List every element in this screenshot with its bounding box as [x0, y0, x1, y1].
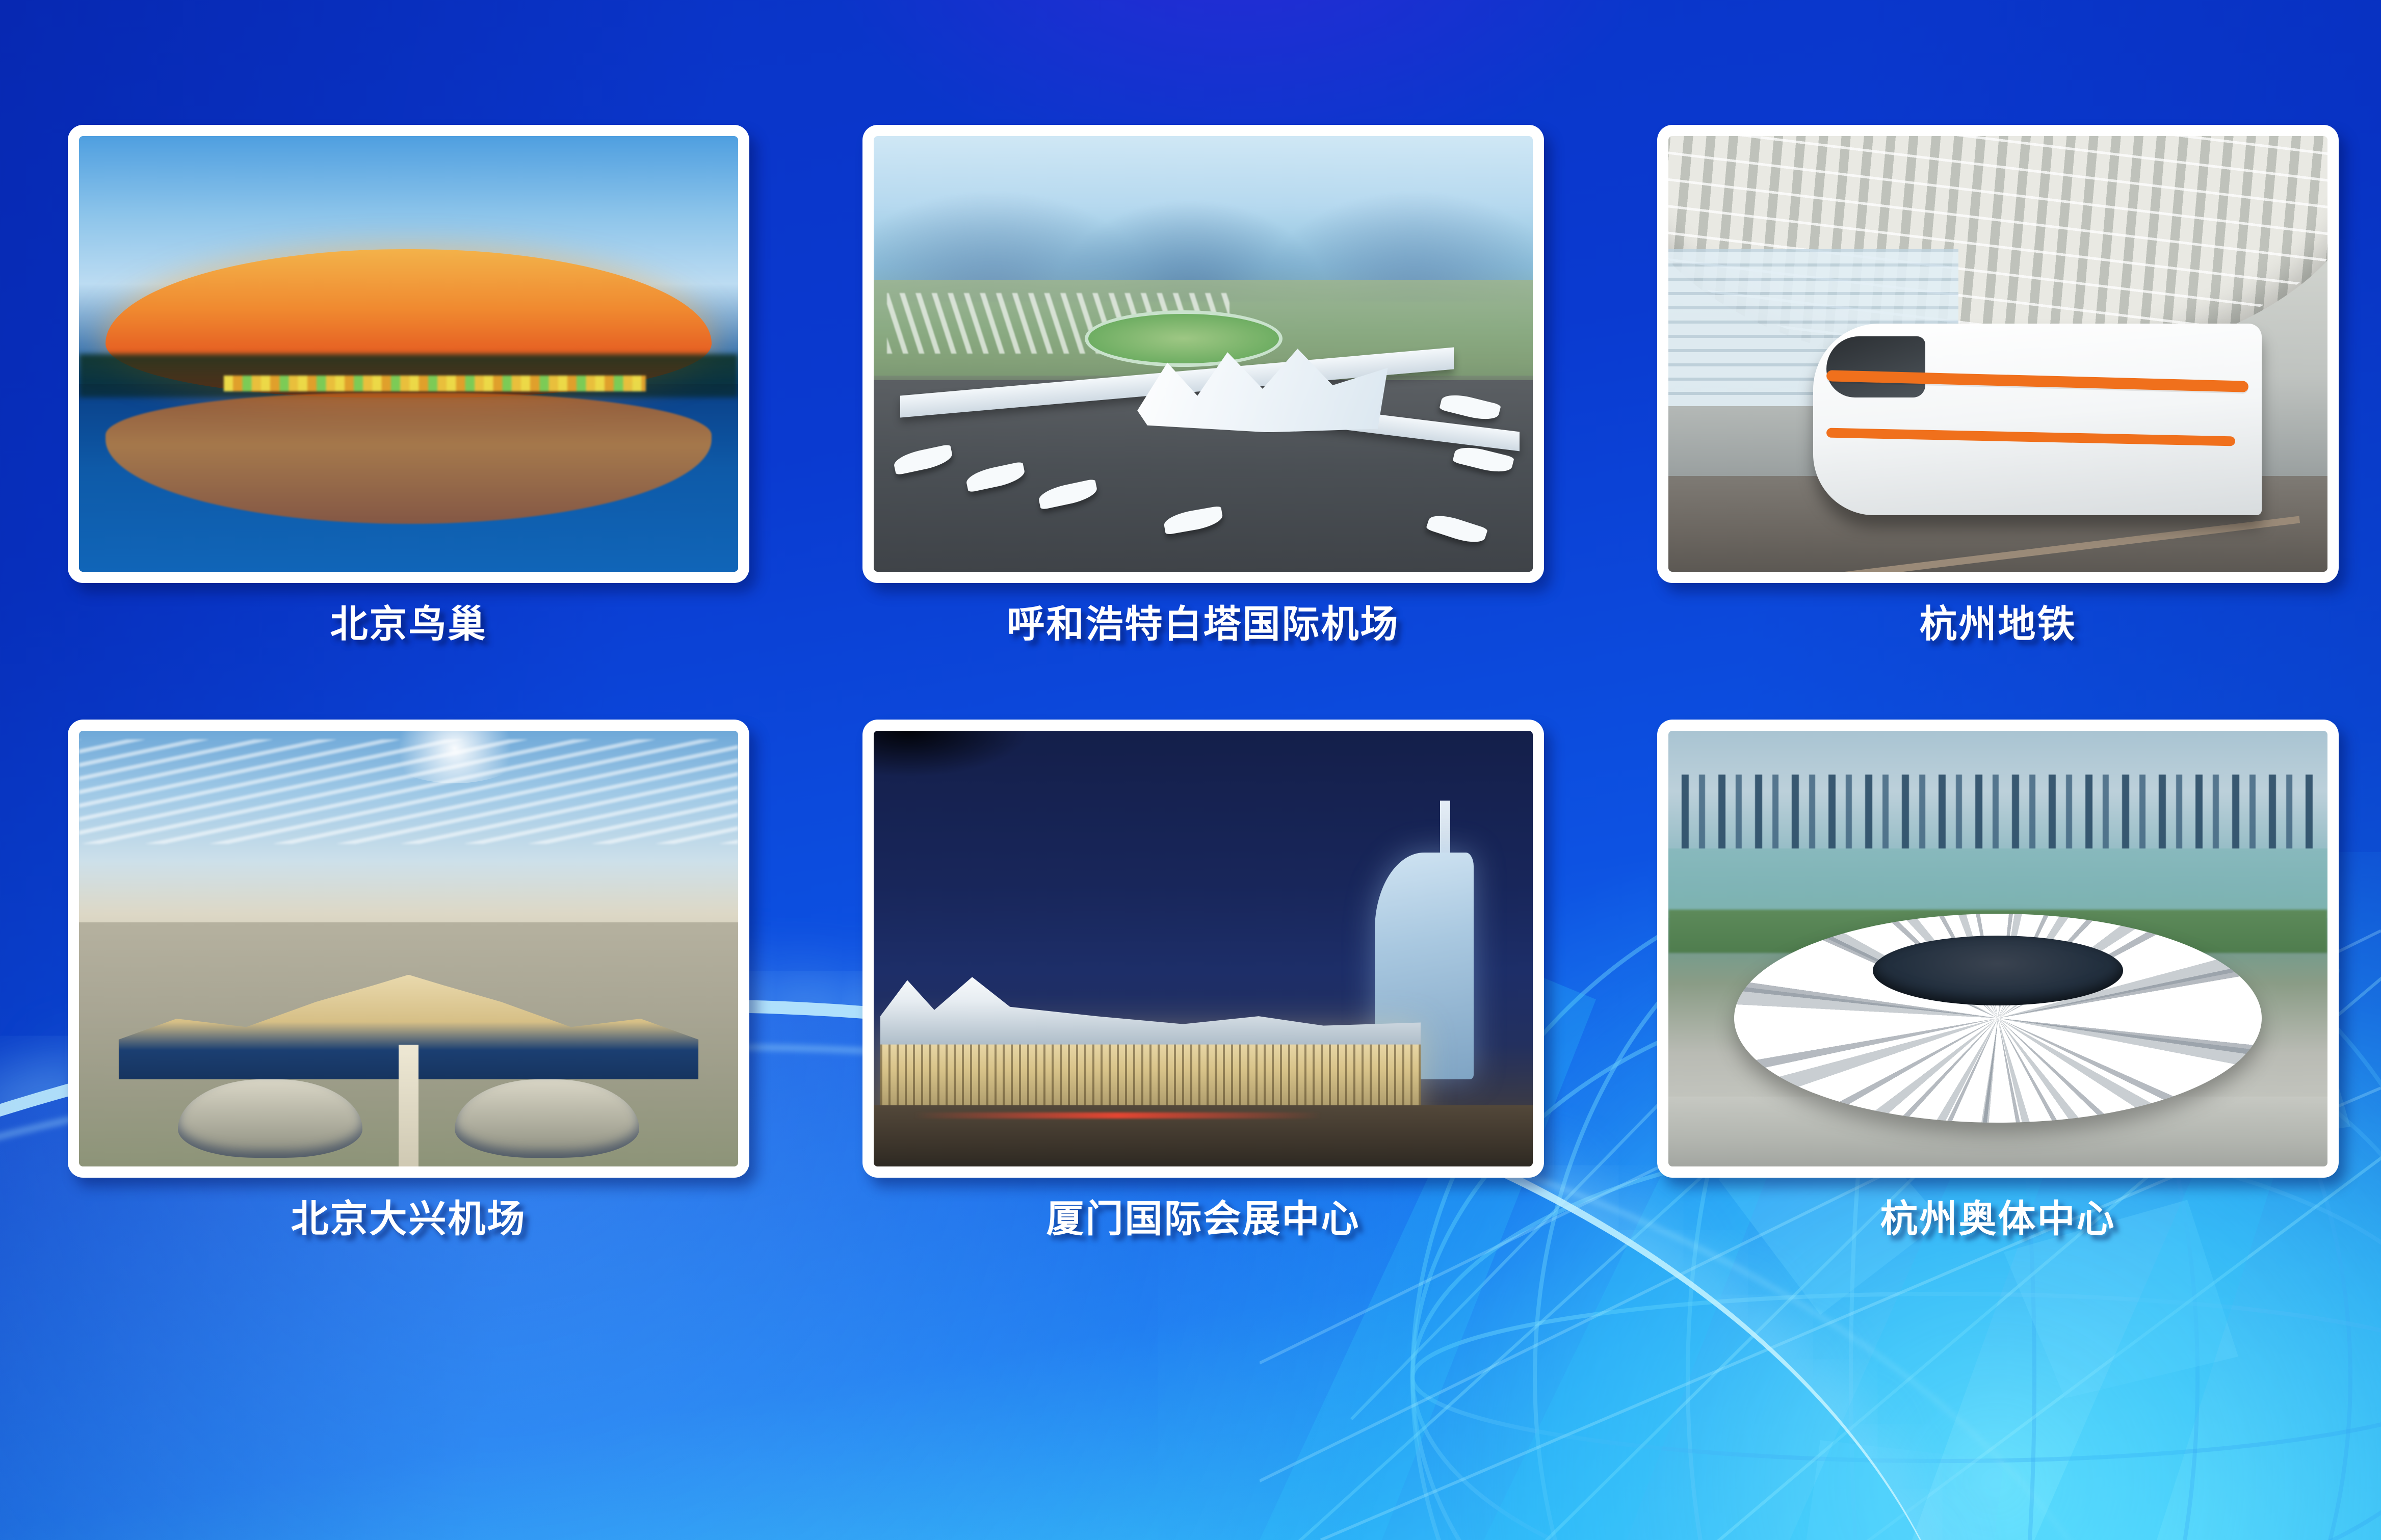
train-windshield — [1826, 336, 1925, 397]
ground-lights — [224, 376, 646, 391]
photo-card[interactable] — [862, 125, 1544, 583]
photo-card[interactable] — [68, 720, 749, 1178]
gallery-item-caption: 呼和浩特白塔国际机场 — [1007, 605, 1400, 643]
gallery-item-caption: 北京鸟巢 — [330, 605, 487, 643]
wave-roof-icon — [880, 966, 1421, 1045]
gallery-item-beijing-daxing-airport[interactable]: 北京大兴机场 — [68, 720, 749, 1238]
gallery-item-caption: 杭州地铁 — [1920, 605, 2077, 643]
gallery-item-hangzhou-metro[interactable]: 杭州地铁 — [1657, 125, 2339, 643]
gallery-item-caption: 厦门国际会展中心 — [1046, 1200, 1360, 1238]
photo-hohhot-airport — [874, 136, 1533, 572]
gallery-item-caption: 杭州奥体中心 — [1880, 1200, 2116, 1238]
gallery-item-hangzhou-olympic-center[interactable]: 杭州奥体中心 — [1657, 720, 2339, 1238]
photo-card[interactable] — [862, 720, 1544, 1178]
gallery-item-hohhot-baita-airport[interactable]: 呼和浩特白塔国际机场 — [862, 125, 1544, 643]
photo-xiamen-convention — [874, 731, 1533, 1166]
foreground-foliage — [874, 731, 1045, 783]
qiantang-river — [1668, 848, 2327, 918]
city-skyline — [1682, 775, 2314, 853]
gallery-item-xiamen-convention-center[interactable]: 厦门国际会展中心 — [862, 720, 1544, 1238]
photo-hangzhou-olympic — [1668, 731, 2327, 1166]
photo-daxing-airport — [79, 731, 738, 1166]
photo-card[interactable] — [68, 125, 749, 583]
photo-hangzhou-metro — [1668, 136, 2327, 572]
photo-card[interactable] — [1657, 720, 2339, 1178]
car-light-trail — [913, 1112, 1322, 1119]
central-access-road — [399, 1045, 418, 1166]
gallery-item-caption: 北京大兴机场 — [291, 1200, 527, 1238]
photo-birds-nest — [79, 136, 738, 572]
gallery-item-beijing-birds-nest[interactable]: 北京鸟巢 — [68, 125, 749, 643]
photo-card[interactable] — [1657, 125, 2339, 583]
stadium-oculus — [1873, 936, 2123, 1005]
project-gallery-grid: 北京鸟巢 呼和浩特白塔国际机场 — [68, 125, 2339, 1429]
cirrus-clouds — [79, 739, 738, 844]
roundabout-garden — [1085, 310, 1283, 367]
